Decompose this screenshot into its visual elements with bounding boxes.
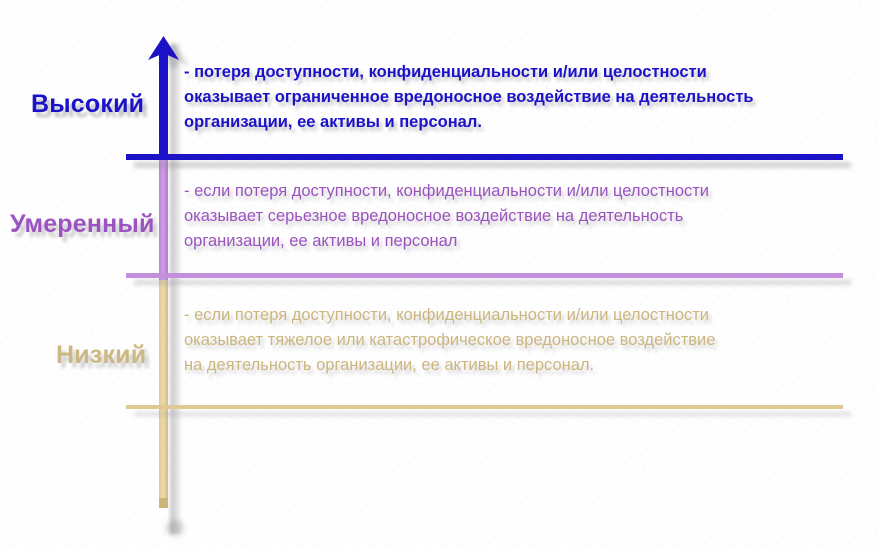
level-description-high-line-2: оказывает ограниченное вредоносное возде… bbox=[184, 85, 874, 110]
arrow-up-icon bbox=[148, 36, 179, 62]
level-label-low: Низкий bbox=[56, 341, 146, 370]
level-description-high-line-3: организации, ее активы и персонал. bbox=[184, 110, 874, 135]
axis-segment-low bbox=[159, 277, 168, 504]
level-label-moderate: Умеренный bbox=[10, 210, 155, 239]
axis-shadow bbox=[170, 44, 181, 534]
level-description-low: - если потеря доступности, конфиденциаль… bbox=[184, 303, 874, 378]
level-description-high: - потеря доступности, конфиденциальности… bbox=[184, 60, 874, 135]
level-description-moderate: - если потеря доступности, конфиденциаль… bbox=[184, 179, 874, 254]
level-description-low-line-3: на деятельность организации, ее активы и… bbox=[184, 353, 874, 378]
level-description-low-line-1: - если потеря доступности, конфиденциаль… bbox=[184, 303, 874, 328]
level-description-moderate-line-3: организации, ее активы и персонал bbox=[184, 229, 874, 254]
level-description-moderate-line-1: - если потеря доступности, конфиденциаль… bbox=[184, 179, 874, 204]
divider-high bbox=[126, 154, 843, 160]
level-label-high: Высокий bbox=[31, 90, 144, 119]
divider-low bbox=[126, 405, 843, 409]
divider-high-shadow bbox=[134, 162, 851, 168]
impact-level-diagram: Высокий Умеренный Низкий - потеря доступ… bbox=[0, 0, 878, 548]
axis-segment-moderate bbox=[159, 155, 168, 280]
axis-foot bbox=[159, 498, 168, 508]
level-description-moderate-line-2: оказывает серьезное вредоносное воздейст… bbox=[184, 204, 874, 229]
level-description-high-line-1: - потеря доступности, конфиденциальности… bbox=[184, 60, 874, 85]
axis-segment-high bbox=[159, 52, 168, 160]
divider-moderate-shadow bbox=[134, 280, 851, 285]
level-description-low-line-2: оказывает тяжелое или катастрофическое в… bbox=[184, 328, 874, 353]
axis-shadow-tip bbox=[166, 520, 184, 536]
divider-moderate bbox=[126, 273, 843, 278]
divider-low-shadow bbox=[134, 412, 851, 416]
